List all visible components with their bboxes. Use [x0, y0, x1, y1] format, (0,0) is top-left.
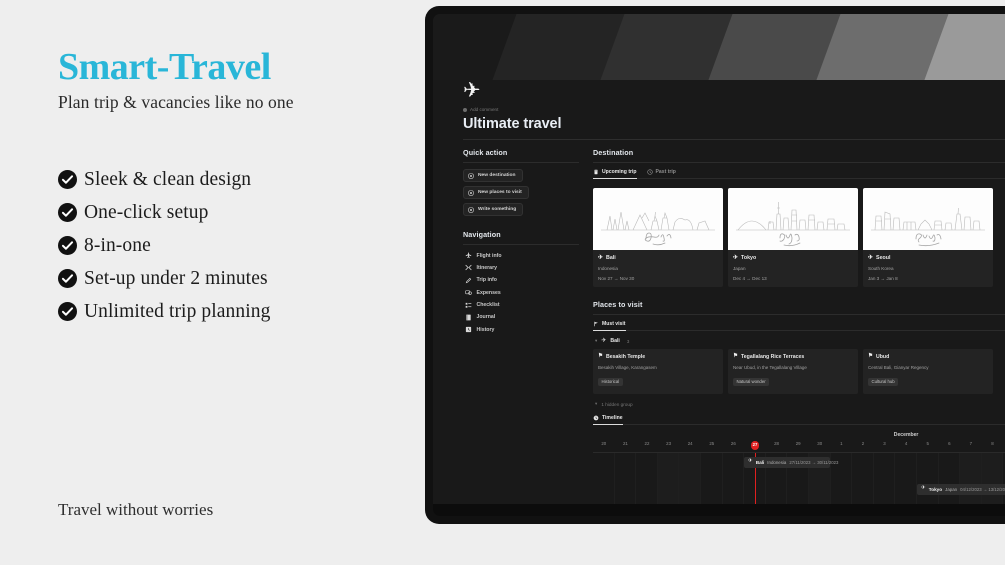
navigation-heading: Navigation: [463, 230, 579, 239]
app-window: ✈ Add comment Ultimate travel Quick acti…: [433, 14, 1005, 516]
place-name-row: ⚑ Besakih Temple: [598, 354, 718, 360]
sidebar-item-expenses[interactable]: Expenses: [463, 288, 579, 297]
destination-name: Seoul: [876, 255, 890, 261]
brand-title: Smart-Travel: [58, 48, 395, 88]
page-header: ✈ Add comment Ultimate travel: [433, 80, 1005, 140]
check-circle-icon: [58, 269, 77, 288]
gear-icon: [468, 207, 474, 213]
map-pin-icon: ⚑: [733, 354, 738, 360]
place-name: Ubud: [876, 354, 889, 360]
quick-action-label: New places to visit: [478, 190, 522, 195]
feature-list: Sleek & clean design One-click setup 8-i…: [58, 169, 395, 323]
airplane-icon: ✈: [868, 255, 873, 261]
places-card-grid: ⚑ Besakih Temple Besakih Village, Karang…: [593, 349, 1005, 394]
tab-must-visit[interactable]: Must visit: [593, 321, 626, 331]
feature-label: One-click setup: [84, 202, 208, 224]
destination-dates: Jan 3 → Jan 8: [868, 276, 988, 281]
chevron-down-icon: ▾: [595, 339, 597, 344]
sidebar-item-label: Flight info: [477, 253, 502, 259]
timeline-day[interactable]: 8: [982, 441, 1004, 450]
check-circle-icon: [58, 236, 77, 255]
sidebar-item-label: Checklist: [477, 302, 500, 308]
place-tag: Cultural hub: [868, 378, 898, 386]
app-body: Quick action New destination: [433, 140, 1005, 516]
sidebar-item-itinerary[interactable]: Itinerary: [463, 263, 579, 272]
header-divider: [463, 139, 1005, 140]
destination-meta: ✈ Tokyo Japan Dec 4 → Dec 13: [728, 250, 858, 287]
timeline-bar-country: Japan: [945, 487, 957, 492]
timeline-day-today[interactable]: 27: [744, 441, 766, 450]
place-address: Besakih Village, Karangasem: [598, 365, 718, 370]
sidebar-item-trip-info[interactable]: Trip info: [463, 276, 579, 285]
timeline-day[interactable]: 4: [895, 441, 917, 450]
destination-name-row: ✈ Seoul: [868, 255, 988, 261]
divider: [593, 314, 1005, 315]
map-pin-icon: ⚑: [868, 354, 873, 360]
destination-country: South Korea: [868, 266, 988, 271]
place-card-besakih-temple[interactable]: ⚑ Besakih Temple Besakih Village, Karang…: [593, 349, 723, 394]
timeline-bar-range: 04/12/2023 → 13/12/2023: [960, 487, 1005, 492]
destination-name: Bali: [606, 255, 616, 261]
destination-meta: ✈ Seoul South Korea Jan 3 → Jan 8: [863, 250, 993, 287]
feature-item: 8-in-one: [58, 235, 395, 257]
timeline-month-label: December: [593, 432, 1005, 438]
airplane-icon: ✈: [601, 338, 606, 344]
timeline-day[interactable]: 26: [723, 441, 745, 450]
feature-item: Set-up under 2 minutes: [58, 268, 395, 290]
map-pin-icon: ⚑: [598, 354, 603, 360]
history-icon: [465, 326, 472, 333]
sidebar-item-flight-info[interactable]: Flight info: [463, 251, 579, 260]
destination-country: Indonesia: [598, 266, 718, 271]
tab-past-trip[interactable]: Past trip: [647, 169, 676, 179]
divider: [463, 162, 579, 163]
places-group-header[interactable]: ▾ ✈ Bali 3: [593, 338, 1005, 344]
gear-icon: [468, 173, 474, 179]
chevron-down-icon: ▾: [595, 402, 597, 407]
divider: [593, 162, 1005, 163]
airplane-icon: ✈: [921, 486, 926, 492]
timeline-bar-name: Tokyo: [929, 487, 942, 492]
timeline-day[interactable]: 25: [701, 441, 723, 450]
sidebar-item-checklist[interactable]: Checklist: [463, 301, 579, 310]
place-card-ubud[interactable]: ⚑ Ubud Central Bali, Gianyar Regency Cul…: [863, 349, 993, 394]
feature-item: Sleek & clean design: [58, 169, 395, 191]
feature-label: Set-up under 2 minutes: [84, 268, 268, 290]
pencil-icon: [465, 277, 472, 284]
tab-label: Upcoming trip: [602, 169, 637, 175]
quick-action-list: New destination New places to visit: [463, 169, 579, 216]
place-name-row: ⚑ Tegallalang Rice Terraces: [733, 354, 853, 360]
destination-card-bali[interactable]: ✈ Bali Indonesia Nov 27 → Nov 30: [593, 188, 723, 287]
check-circle-icon: [58, 302, 77, 321]
timeline-day[interactable]: 2: [852, 441, 874, 450]
place-address: Central Bali, Gianyar Regency: [868, 365, 988, 370]
seoul-skyline-illustration: [863, 188, 993, 250]
place-name-row: ⚑ Ubud: [868, 354, 988, 360]
quick-action-label: Write something: [478, 207, 516, 212]
destination-name: Tokyo: [741, 255, 756, 261]
destination-dates: Dec 4 → Dec 13: [733, 276, 853, 281]
places-heading: Places to visit: [593, 300, 1005, 309]
sidebar-item-label: Trip info: [477, 277, 497, 283]
bali-skyline-illustration: [593, 188, 723, 250]
divider: [463, 244, 579, 245]
airplane-icon: ✈: [733, 255, 738, 261]
group-label: Bali: [610, 338, 620, 344]
hidden-group-label: 1 hidden group: [601, 402, 632, 407]
timeline-day[interactable]: 24: [679, 441, 701, 450]
timeline-day[interactable]: 20: [593, 441, 615, 450]
brand-tagline: Plan trip & vacancies like no one: [58, 92, 395, 113]
destination-card-seoul[interactable]: ✈ Seoul South Korea Jan 3 → Jan 8: [863, 188, 993, 287]
money-icon: [465, 289, 472, 296]
quick-action-label: New destination: [478, 173, 516, 178]
timeline-bar-bali[interactable]: ✈ Bali Indonesia 27/11/2023 → 30/11/2023: [744, 457, 830, 468]
destination-name-row: ✈ Tokyo: [733, 255, 853, 261]
comment-bubble-icon: [463, 108, 467, 112]
write-something-button[interactable]: Write something: [463, 203, 523, 216]
timeline-section: Timeline December 20 21 22 23 24 25 26 2…: [593, 415, 1005, 516]
destination-card-grid: ✈ Bali Indonesia Nov 27 → Nov 30: [593, 188, 1005, 287]
gear-icon: [468, 190, 474, 196]
timeline-day[interactable]: 3: [874, 441, 896, 450]
timeline-bar-tokyo[interactable]: ✈ Tokyo Japan 04/12/2023 → 13/12/2023: [917, 484, 1005, 495]
place-name: Tegallalang Rice Terraces: [741, 354, 804, 360]
destination-tabs: Upcoming trip Past trip: [593, 169, 1005, 179]
ticket-icon: [593, 169, 599, 175]
timeline-day[interactable]: 21: [615, 441, 637, 450]
new-destination-button[interactable]: New destination: [463, 169, 523, 182]
tokyo-skyline-illustration: [728, 188, 858, 250]
timeline-bar-range: 27/11/2023 → 30/11/2023: [789, 460, 838, 465]
footer-tagline: Travel without worries: [58, 500, 213, 520]
timeline-day[interactable]: 5: [917, 441, 939, 450]
timeline-day[interactable]: 7: [960, 441, 982, 450]
today-badge: 27: [751, 441, 760, 450]
new-places-to-visit-button[interactable]: New places to visit: [463, 186, 529, 199]
feature-item: Unlimited trip planning: [58, 301, 395, 323]
timeline-day[interactable]: 1: [831, 441, 853, 450]
sidebar-item-label: History: [477, 327, 495, 333]
feature-label: Unlimited trip planning: [84, 301, 270, 323]
tab-label: Must visit: [602, 321, 626, 327]
clock-icon: [647, 169, 653, 175]
place-card-tegallalang-rice-terraces[interactable]: ⚑ Tegallalang Rice Terraces Near Ubud, i…: [728, 349, 858, 394]
destination-country: Japan: [733, 266, 853, 271]
sidebar-item-history[interactable]: History: [463, 325, 579, 334]
airplane-icon: ✈: [598, 255, 603, 261]
place-tag: Natural wonder: [733, 378, 769, 386]
destination-name-row: ✈ Bali: [598, 255, 718, 261]
marketing-column: Smart-Travel Plan trip & vacancies like …: [0, 0, 425, 565]
clock-icon: [593, 415, 599, 421]
airplane-icon: [465, 252, 472, 259]
shuffle-icon: [465, 264, 472, 271]
airplane-icon: ✈: [748, 459, 753, 465]
group-count: 3: [627, 339, 630, 344]
timeline-day[interactable]: 28: [766, 441, 788, 450]
timeline-tabs: Timeline: [593, 415, 1005, 425]
main-content: Destination Upcoming trip: [579, 148, 1005, 516]
navigation-block: Navigation Flight info: [463, 230, 579, 334]
page-title: Ultimate travel: [463, 116, 1005, 132]
places-to-visit-section: Places to visit Must visit ▾: [593, 300, 1005, 407]
timeline-bar-country: Indonesia: [767, 460, 786, 465]
sidebar-item-label: Expenses: [477, 290, 501, 296]
tab-label: Timeline: [602, 415, 623, 421]
checklist-icon: [465, 302, 472, 309]
places-tabs: Must visit: [593, 321, 1005, 331]
add-comment-label: Add comment: [470, 107, 498, 112]
tab-upcoming-trip[interactable]: Upcoming trip: [593, 169, 637, 179]
book-icon: [465, 314, 472, 321]
timeline-day-header: 20 21 22 23 24 25 26 27 28 29 30 1 2 3: [593, 441, 1005, 453]
place-address: Near Ubud, in the Tegallalang Village: [733, 365, 853, 370]
feature-label: 8-in-one: [84, 235, 151, 257]
sidebar-item-journal[interactable]: Journal: [463, 313, 579, 322]
airplane-icon: ✈: [463, 80, 1005, 101]
timeline-day[interactable]: 6: [939, 441, 961, 450]
timeline-bar-name: Bali: [756, 460, 765, 465]
timeline-day[interactable]: 23: [658, 441, 680, 450]
quick-action-heading: Quick action: [463, 148, 579, 157]
sidebar: Quick action New destination: [463, 148, 579, 516]
feature-label: Sleek & clean design: [84, 169, 251, 191]
place-tag: Historical: [598, 378, 623, 386]
place-name: Besakih Temple: [606, 354, 645, 360]
destination-card-tokyo[interactable]: ✈ Tokyo Japan Dec 4 → Dec 13: [728, 188, 858, 287]
panel-bottom-bar: [433, 504, 1005, 516]
tab-label: Past trip: [656, 169, 676, 175]
destination-heading: Destination: [593, 148, 1005, 157]
hidden-group-toggle[interactable]: ▾ 1 hidden group: [593, 402, 1005, 407]
timeline-day[interactable]: 22: [636, 441, 658, 450]
destination-dates: Nov 27 → Nov 30: [598, 276, 718, 281]
feature-item: One-click setup: [58, 202, 395, 224]
check-circle-icon: [58, 203, 77, 222]
sidebar-item-label: Itinerary: [477, 265, 497, 271]
timeline-day[interactable]: 29: [787, 441, 809, 450]
sidebar-item-label: Journal: [477, 314, 496, 320]
app-mockup-panel: ✈ Add comment Ultimate travel Quick acti…: [425, 6, 1005, 524]
add-comment-button[interactable]: Add comment: [463, 107, 1005, 112]
timeline-day[interactable]: 30: [809, 441, 831, 450]
flag-icon: [593, 321, 599, 327]
check-circle-icon: [58, 170, 77, 189]
destination-meta: ✈ Bali Indonesia Nov 27 → Nov 30: [593, 250, 723, 287]
tab-timeline[interactable]: Timeline: [593, 415, 623, 425]
nav-list: Flight info Itinerary Tr: [463, 251, 579, 334]
